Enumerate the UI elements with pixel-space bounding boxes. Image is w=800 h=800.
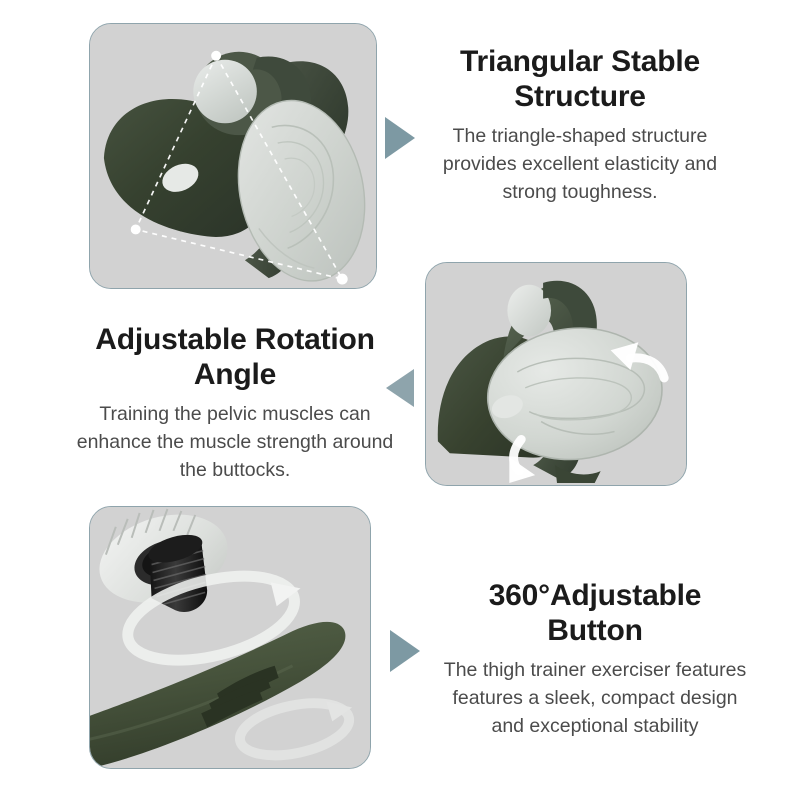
feature-body-3: The thigh trainer exerciser features fea… bbox=[440, 656, 750, 740]
triangle-vertex-left bbox=[131, 224, 141, 234]
adjustable-screw-knob-illustration bbox=[90, 507, 370, 768]
feature-image-panel-triangular-structure bbox=[89, 23, 377, 289]
feature-heading-3: 360°Adjustable Button bbox=[440, 578, 750, 648]
feature-text-triangular-structure: Triangular Stable Structure The triangle… bbox=[420, 44, 740, 206]
pointer-arrow-right-icon-feature-1 bbox=[385, 117, 415, 159]
triangle-vertex-right bbox=[337, 274, 348, 285]
hinge-knob-face bbox=[193, 60, 257, 124]
feature-text-rotation-angle: Adjustable Rotation Angle Training the p… bbox=[70, 322, 400, 484]
feature-body-2: Training the pelvic muscles can enhance … bbox=[70, 400, 400, 484]
triangle-vertex-top bbox=[211, 51, 221, 61]
infographic-canvas: Triangular Stable Structure The triangle… bbox=[0, 0, 800, 800]
feature-image-panel-adjustable-button bbox=[89, 506, 371, 769]
feature-body-1: The triangle-shaped structure provides e… bbox=[420, 122, 740, 206]
pointer-arrow-right-icon-feature-3 bbox=[390, 630, 420, 672]
thigh-trainer-front-view-illustration bbox=[426, 263, 686, 485]
feature-text-adjustable-button: 360°Adjustable Button The thigh trainer … bbox=[440, 578, 750, 740]
feature-heading-1: Triangular Stable Structure bbox=[420, 44, 740, 114]
feature-image-panel-rotation-angle bbox=[425, 262, 687, 486]
thigh-trainer-side-view-illustration bbox=[90, 24, 376, 288]
feature-heading-2: Adjustable Rotation Angle bbox=[70, 322, 400, 392]
